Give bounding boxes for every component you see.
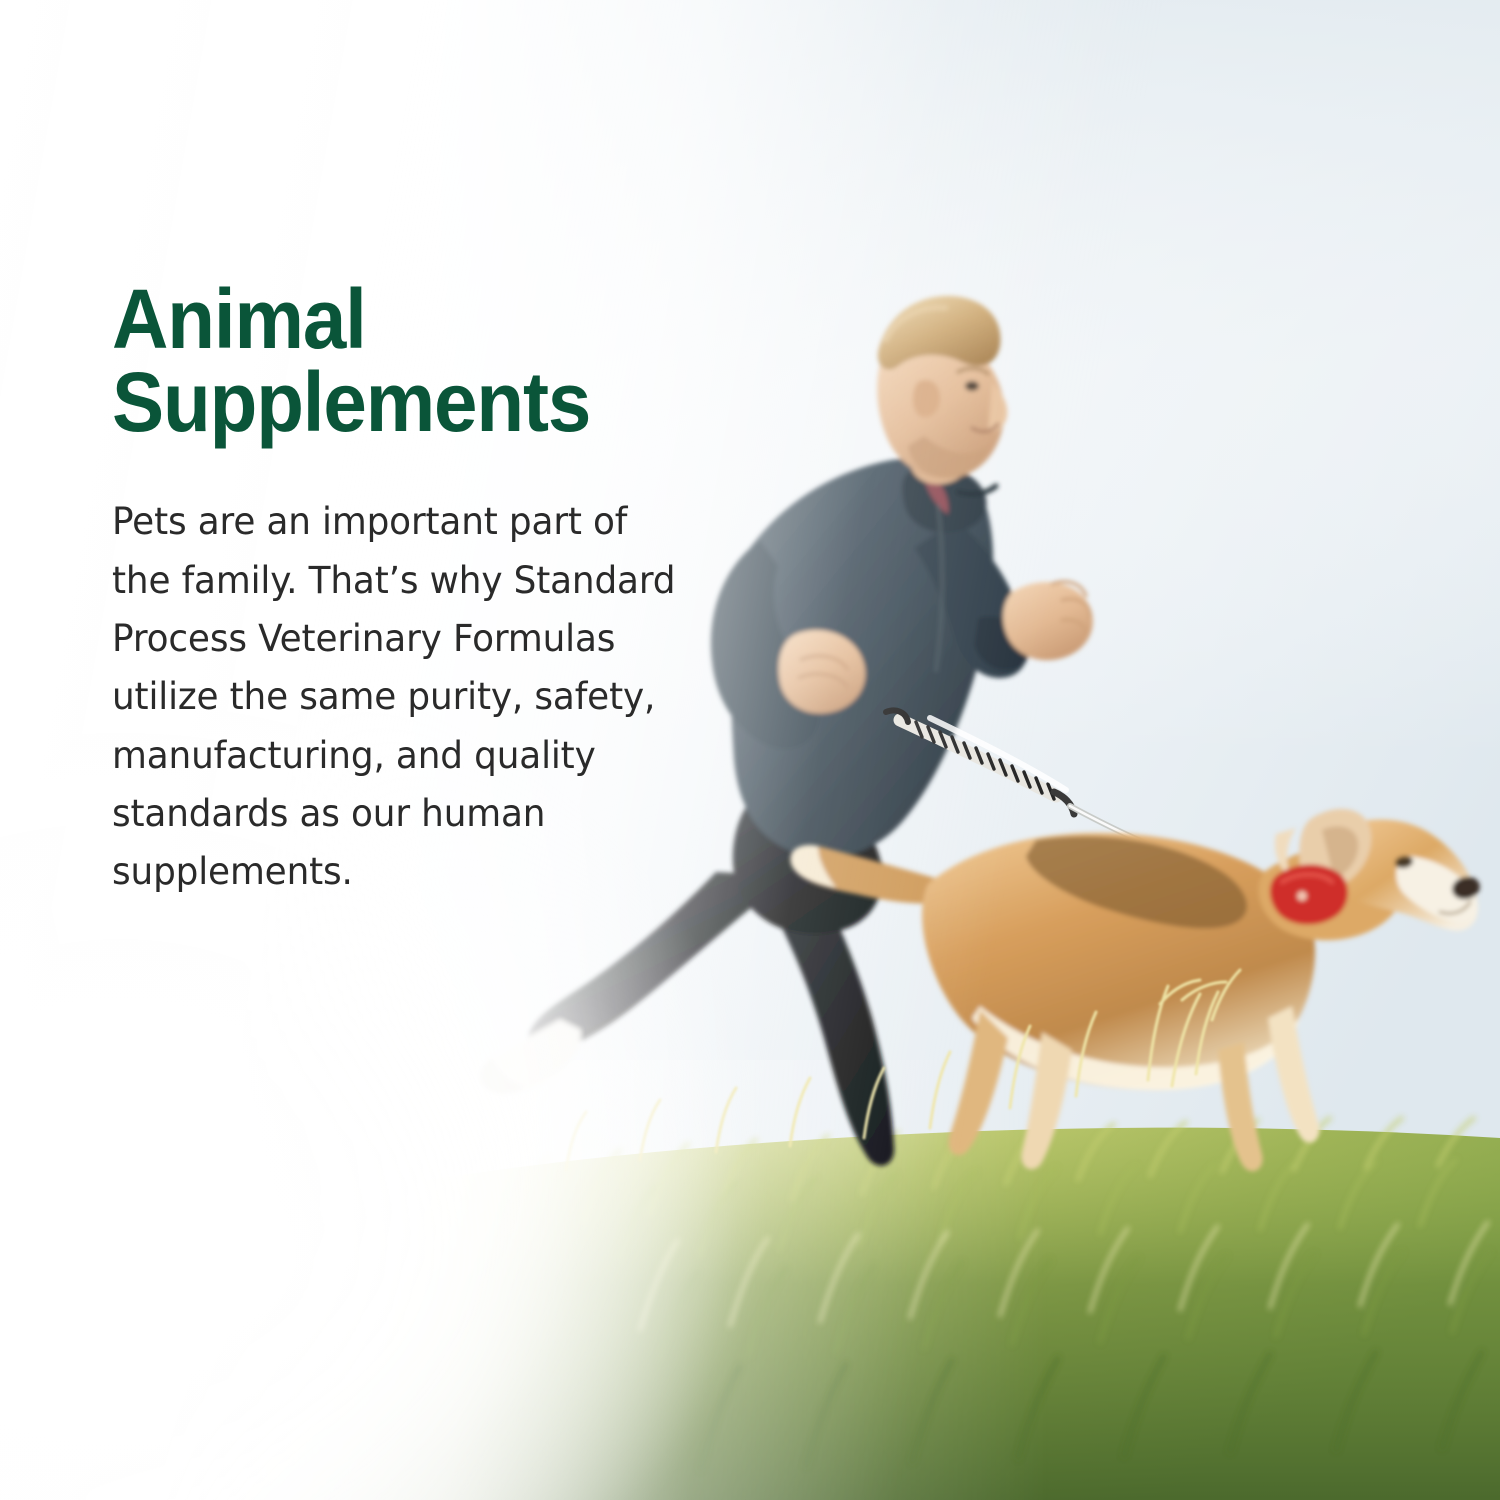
text-panel: Animal Supplements Pets are an important… <box>112 278 712 901</box>
hero-banner: Animal Supplements Pets are an important… <box>0 0 1500 1500</box>
body-paragraph: Pets are an important part of the family… <box>112 492 685 900</box>
page-title: Animal Supplements <box>112 278 670 444</box>
